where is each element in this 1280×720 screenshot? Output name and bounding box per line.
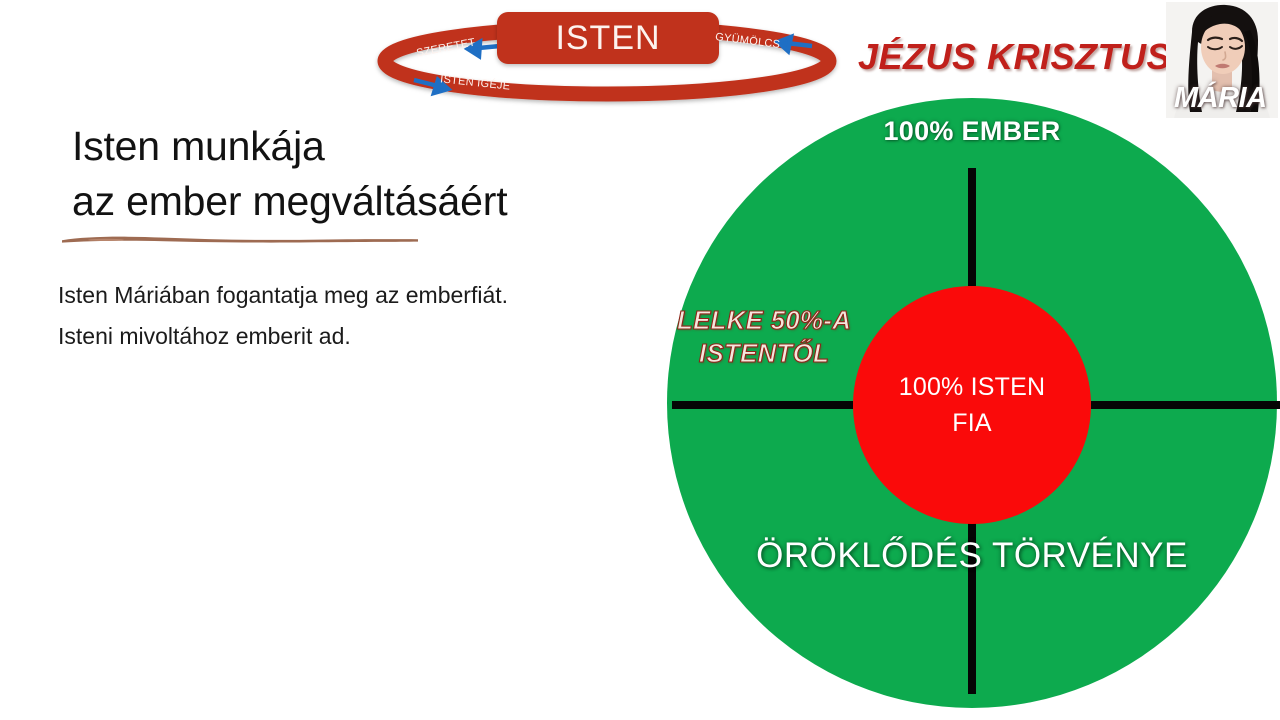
circle-label-top: 100% EMBER: [667, 116, 1277, 147]
isten-box-label: ISTEN: [555, 21, 660, 55]
page-title-line-2: az ember megváltásáért: [72, 174, 672, 228]
isten-center-box: ISTEN: [497, 12, 719, 64]
body-line-1: Isten Máriában fogantatja meg az emberfi…: [58, 275, 658, 316]
jezus-krisztus-heading: JÉZUS KRISZTUS: [858, 36, 1171, 78]
christ-nature-circle-diagram: 100% EMBER LELKE 50%-A ISTENTŐL 100% IST…: [667, 98, 1280, 710]
body-text: Isten Máriában fogantatja meg az emberfi…: [58, 275, 658, 357]
cross-line-top: [968, 168, 976, 286]
inner-red-circle: 100% ISTEN FIA: [853, 286, 1091, 524]
circle-label-left-line-2: ISTENTŐL: [675, 337, 853, 370]
circle-label-left-line-1: LELKE 50%-A: [675, 304, 853, 337]
page-title-line-1: Isten munkája: [72, 123, 325, 169]
slide-canvas: ISTEN SZERETET GYÜMÖLCS ISTEN IGÉJE Iste…: [0, 0, 1280, 720]
cross-line-right: [1091, 401, 1280, 409]
inner-circle-line-2: FIA: [952, 405, 992, 441]
title-underline-brushstroke: [60, 232, 420, 246]
cross-line-left: [672, 401, 853, 409]
circle-label-bottom: ÖRÖKLŐDÉS TÖRVÉNYE: [667, 536, 1277, 576]
brushstroke-highlight: [88, 239, 124, 241]
page-title: Isten munkája az ember megváltásáért: [72, 119, 672, 227]
inner-circle-line-1: 100% ISTEN: [899, 369, 1046, 405]
body-line-2: Isteni mivoltához emberit ad.: [58, 316, 658, 357]
circle-label-left: LELKE 50%-A ISTENTŐL: [675, 304, 853, 371]
god-cycle-graphic: ISTEN SZERETET GYÜMÖLCS ISTEN IGÉJE: [372, 8, 842, 108]
